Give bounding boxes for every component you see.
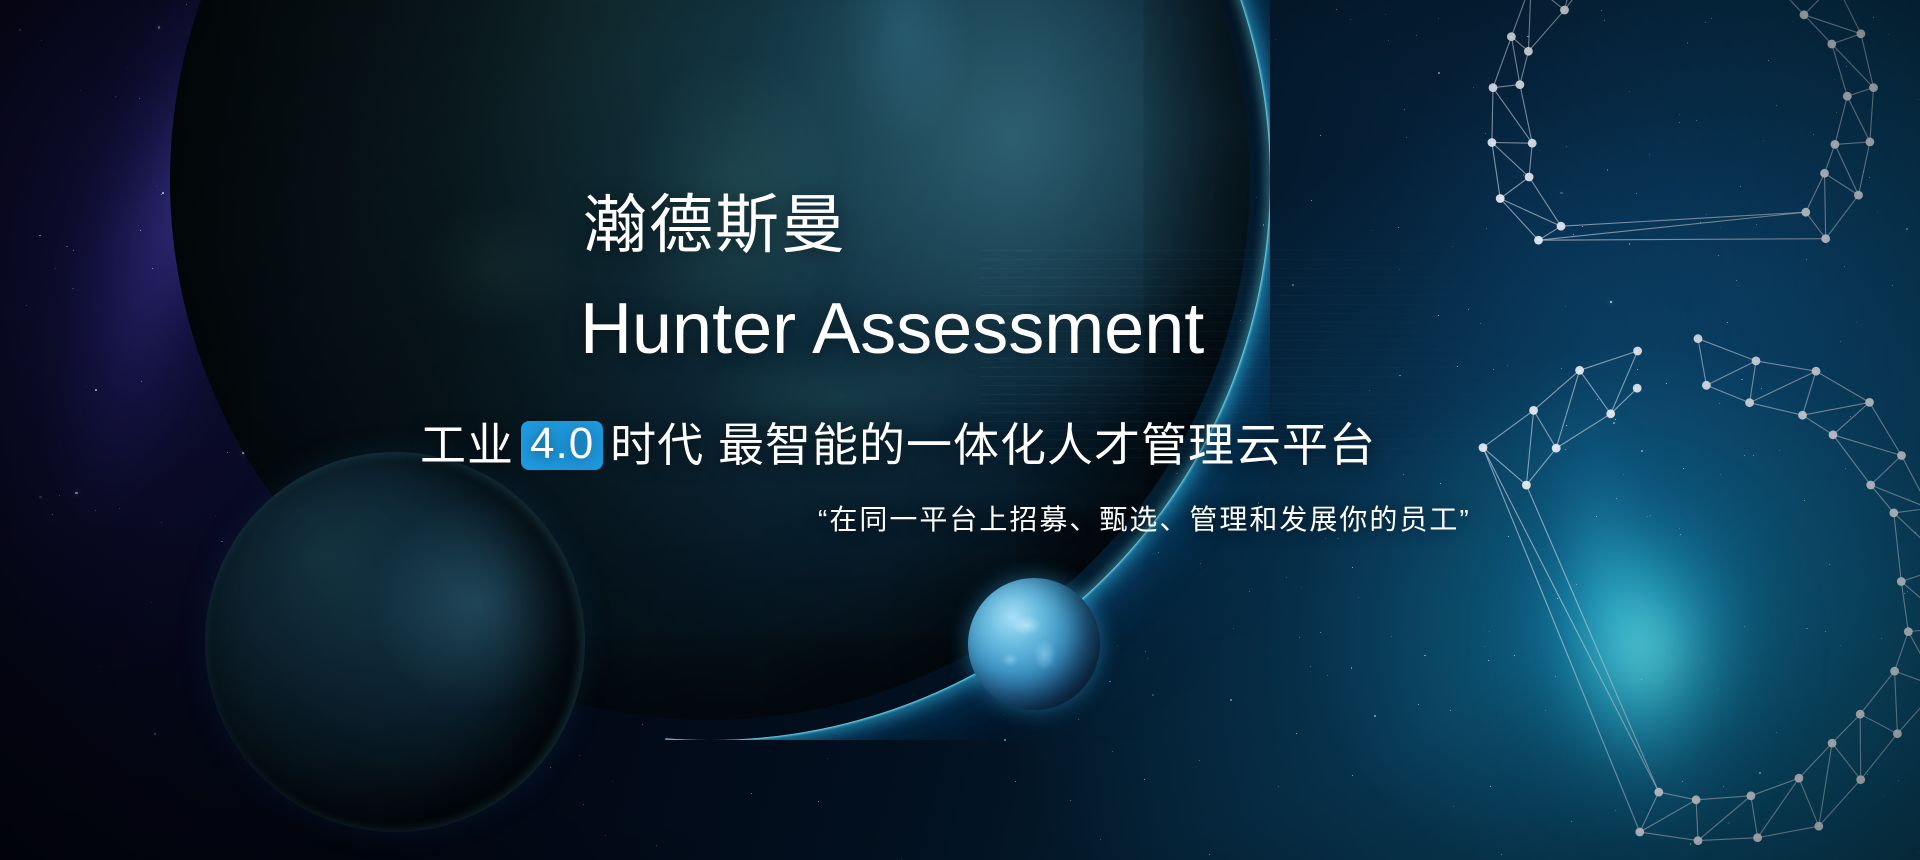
constellation-ring-bottom-right bbox=[1398, 296, 1920, 860]
small-blue-moon bbox=[968, 578, 1100, 710]
hero-banner: 瀚德斯曼 Hunter Assessment 工业 4.0 时代 最智能的一体化… bbox=[0, 0, 1920, 860]
dark-moon-planet bbox=[205, 452, 585, 832]
